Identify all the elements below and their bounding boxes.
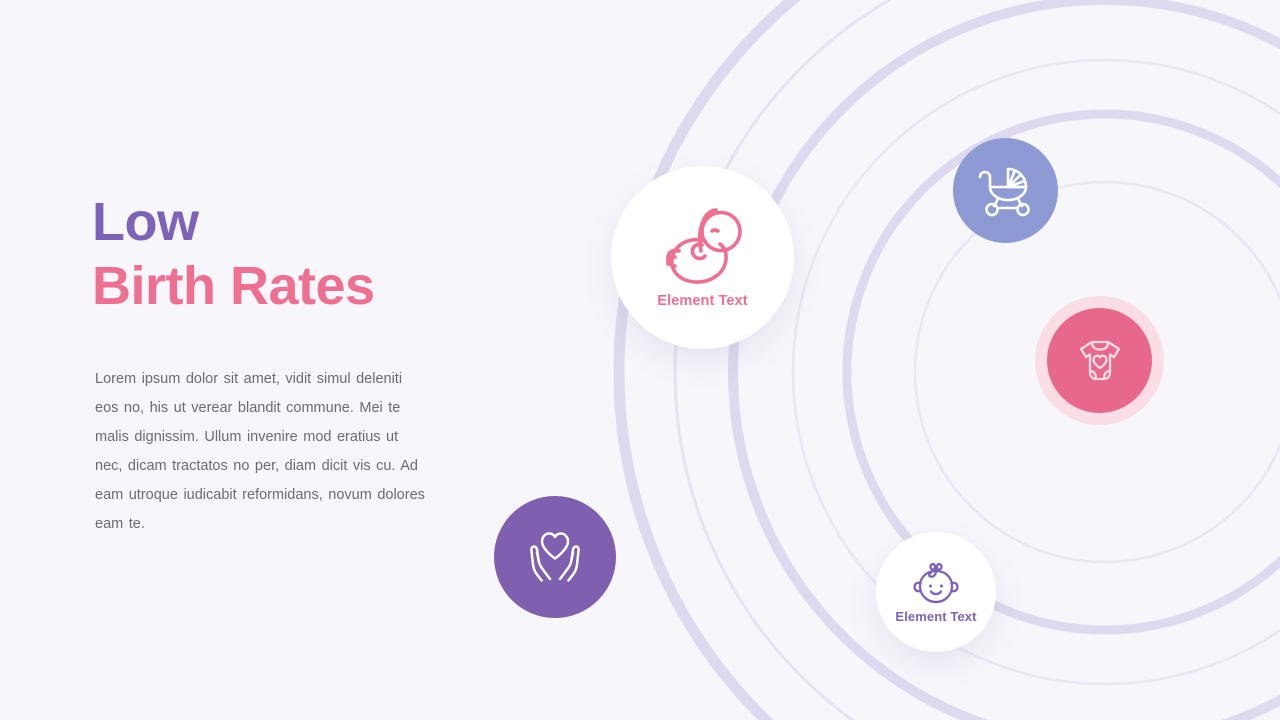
- fetus-icon: [655, 207, 751, 289]
- node-label-fetus: Element Text: [657, 293, 747, 309]
- node-onesie[interactable]: [1047, 308, 1152, 413]
- node-stroller[interactable]: [953, 138, 1058, 243]
- page-title: Low Birth Rates: [92, 190, 452, 318]
- hands-holding-heart-icon: [524, 527, 586, 587]
- body-paragraph: Lorem ipsum dolor sit amet, vidit simul …: [95, 365, 425, 539]
- baby-stroller-icon: [978, 164, 1034, 218]
- title-line-1: Low: [92, 190, 452, 254]
- slide-canvas: Low Birth Rates Lorem ipsum dolor sit am…: [0, 0, 1280, 720]
- baby-onesie-heart-icon: [1075, 337, 1125, 384]
- text-column: Low Birth Rates Lorem ipsum dolor sit am…: [92, 190, 452, 318]
- node-babyface[interactable]: Element Text: [876, 532, 996, 652]
- node-fetus[interactable]: Element Text: [611, 166, 794, 349]
- title-line-2: Birth Rates: [92, 254, 452, 318]
- node-hands-heart[interactable]: [494, 496, 616, 618]
- baby-face-bow-icon: [911, 561, 961, 607]
- node-label-babyface: Element Text: [895, 609, 976, 624]
